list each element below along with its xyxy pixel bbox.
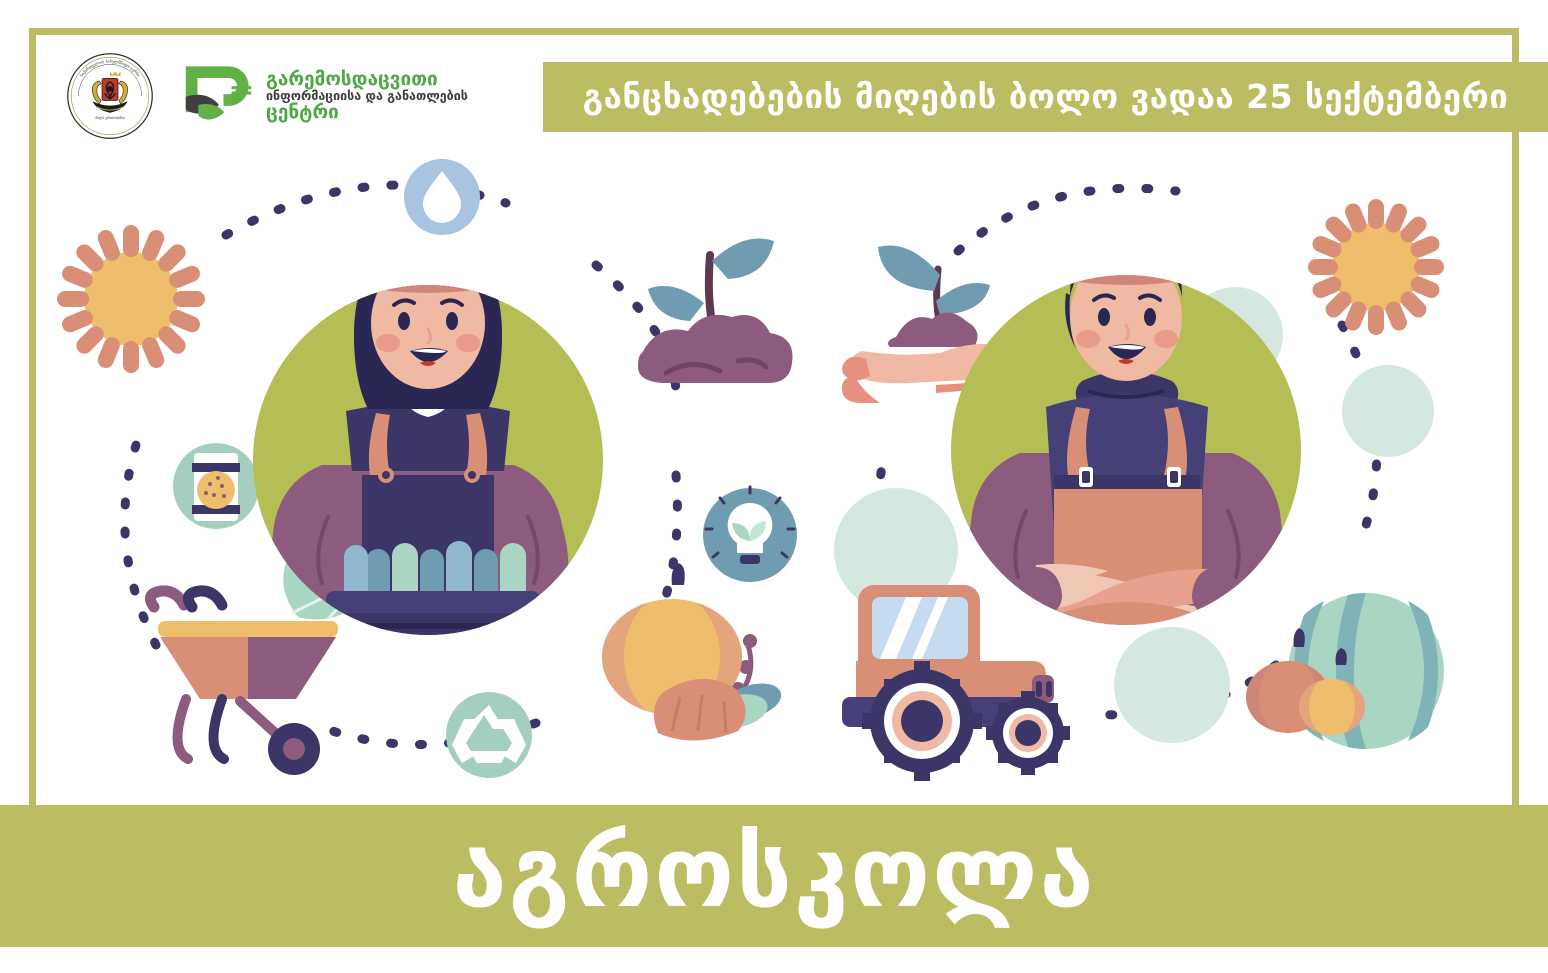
illustration-stage [36, 145, 1512, 805]
agriculture-illustration [36, 145, 1512, 805]
poster-root: ძალა ერთობაშია საქართველოს სახელმწიფო გე… [0, 0, 1548, 973]
decor-circle [1342, 365, 1434, 457]
sprout-in-soil-icon [638, 239, 793, 384]
male-farmer-character [951, 177, 1301, 705]
logo-row: ძალა ერთობაშია საქართველოს სახელმწიფო გე… [66, 52, 468, 140]
recycle-icon [446, 692, 532, 778]
footer-bar: აგროსკოლა [0, 805, 1548, 947]
geic-logo-line3: ცენტრი [266, 103, 468, 123]
geic-logo: გარემოსდაცვითი ინფორმაციისა და განათლები… [180, 61, 468, 131]
eco-lightbulb-icon [703, 487, 797, 582]
deadline-banner: განცხადებების მიღების ბოლო ვადაა 25 სექტ… [543, 62, 1548, 132]
geic-logo-line1: გარემოსდაცვითი [266, 70, 468, 90]
jar-icon [173, 443, 259, 529]
decor-circle [1114, 627, 1230, 743]
poster-title: აგროსკოლა [452, 824, 1095, 928]
tractor-icon [842, 585, 1070, 781]
geic-book-logo-icon [180, 61, 258, 131]
pumpkin-icon [602, 563, 785, 741]
georgia-coat-of-arms-emblem: ძალა ერთობაშია საქართველოს სახელმწიფო გე… [66, 52, 154, 140]
sun-icon [57, 225, 205, 373]
deadline-text: განცხადებების მიღების ბოლო ვადაა 25 სექტ… [583, 80, 1509, 115]
water-drop-icon [404, 159, 480, 235]
sun-icon [1308, 199, 1444, 335]
svg-text:ძალა ერთობაშია: ძალა ერთობაშია [95, 116, 125, 120]
